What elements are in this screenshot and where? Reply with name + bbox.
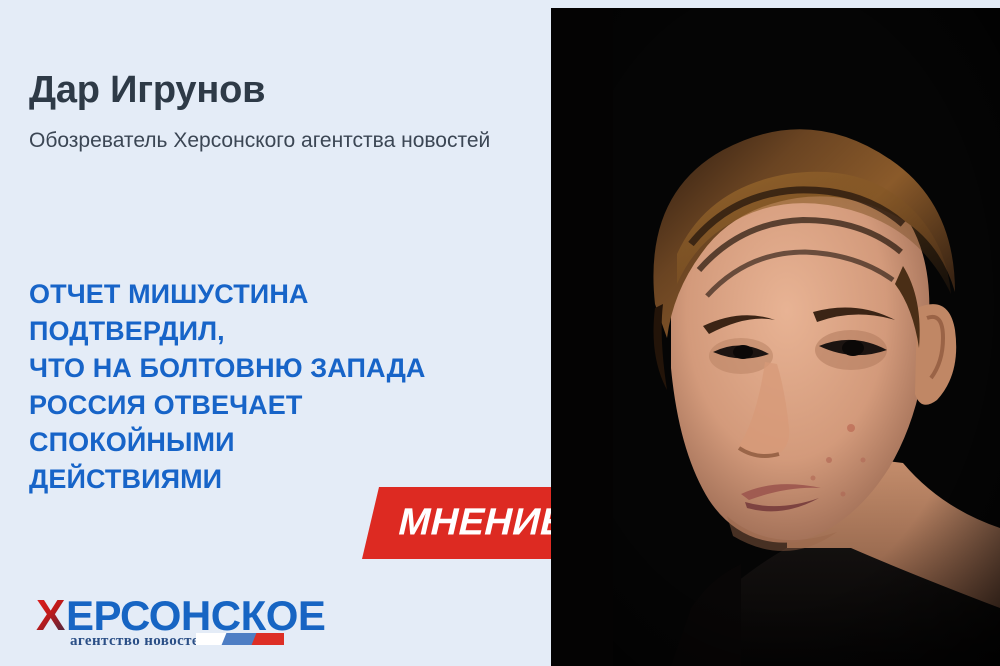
headline-line: СПОКОЙНЫМИ	[29, 424, 539, 461]
headline: ОТЧЕТ МИШУСТИНА ПОДТВЕРДИЛ, ЧТО НА БОЛТО…	[29, 276, 539, 498]
author-role: Обозреватель Херсонского агентства новос…	[29, 126, 519, 156]
author-portrait-image	[551, 8, 1000, 666]
logo-x-mark-icon: Х	[36, 594, 65, 638]
headline-line: ОТЧЕТ МИШУСТИНА	[29, 276, 539, 313]
flag-stripe-red	[252, 633, 284, 645]
author-photo	[551, 8, 1000, 666]
badge-label: МНЕНИЕ	[394, 502, 571, 545]
russian-flag-icon	[196, 633, 284, 645]
headline-line: РОССИЯ ОТВЕЧАЕТ	[29, 387, 539, 424]
logo-tagline: агентство новостей	[70, 633, 208, 650]
headline-line: ПОДТВЕРДИЛ,	[29, 313, 539, 350]
author-name: Дар Игрунов	[29, 68, 265, 112]
headline-line: ЧТО НА БОЛТОВНЮ ЗАПАДА	[29, 350, 539, 387]
text-column: Дар Игрунов Обозреватель Херсонского аге…	[0, 0, 551, 666]
opinion-card: Дар Игрунов Обозреватель Херсонского аге…	[0, 0, 1000, 666]
brand-logo: Х ЕРСОНСКОЕ агентство новостей	[36, 592, 286, 648]
logo-wordmark: ЕРСОНСКОЕ	[66, 594, 325, 638]
